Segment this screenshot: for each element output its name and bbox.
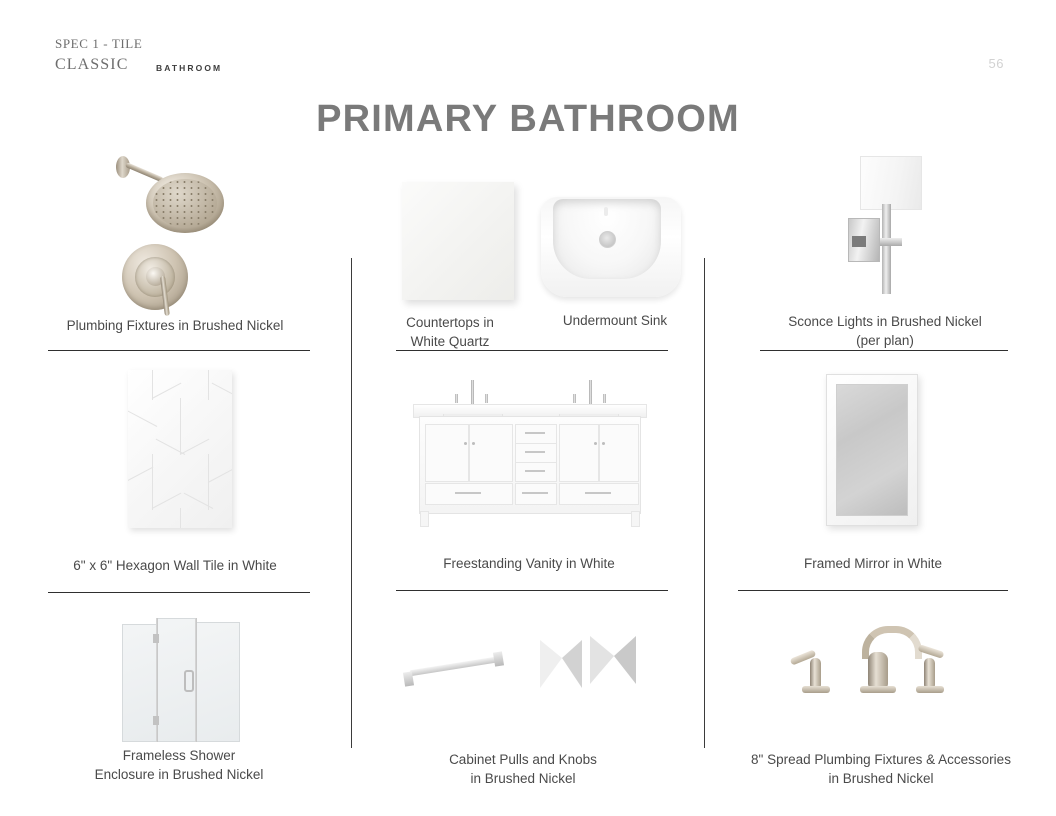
spec-sheet-page: SPEC 1 - TILE CLASSIC BATHROOM 56 PRIMAR… bbox=[0, 0, 1056, 816]
vanity-bottom-drawer-1 bbox=[425, 483, 513, 505]
faucet-right-handle-icon bbox=[924, 658, 935, 688]
caption-cabinet-hardware: Cabinet Pulls and Knobs in Brushed Nicke… bbox=[394, 750, 652, 788]
vanity-faucet-right-icon bbox=[589, 380, 592, 406]
vanity-knob-4 bbox=[602, 442, 605, 445]
enclosure-post-right bbox=[195, 618, 197, 742]
quartz-swatch-image bbox=[396, 178, 522, 304]
caption-spread-plumbing: 8" Spread Plumbing Fixtures & Accessorie… bbox=[718, 750, 1044, 788]
quartz-sample-icon bbox=[402, 182, 514, 300]
vanity-center-drawer-3 bbox=[515, 462, 557, 482]
vanity-door-3 bbox=[559, 424, 599, 482]
enclosure-side-panel-right bbox=[196, 622, 240, 742]
rule-hexagon-tile bbox=[48, 592, 310, 593]
rule-plumbing-fixtures bbox=[48, 350, 310, 351]
faucet-left-handle-icon bbox=[810, 658, 821, 688]
enclosure-hinge-bottom bbox=[153, 716, 159, 725]
sconce-stem-icon bbox=[882, 204, 891, 294]
faucet-spout-body-icon bbox=[868, 652, 888, 688]
page-title: PRIMARY BATHROOM bbox=[0, 98, 1056, 141]
vanity-center-pull-1 bbox=[525, 432, 545, 434]
rule-framed-mirror bbox=[738, 590, 1008, 591]
cabinet-hardware-image bbox=[394, 618, 522, 718]
sconce-backplate-detail-icon bbox=[852, 236, 866, 247]
vanity-knob-2 bbox=[472, 442, 475, 445]
widespread-faucet-image bbox=[778, 618, 984, 718]
hexagon-tile-panel-icon bbox=[128, 370, 232, 528]
rule-sconce-lights bbox=[760, 350, 1008, 351]
rule-countertops-sink bbox=[396, 350, 668, 351]
shower-arm-icon bbox=[125, 162, 164, 182]
sconce-shade-icon bbox=[860, 156, 922, 210]
vanity-image bbox=[409, 370, 649, 532]
page-number: 56 bbox=[989, 56, 1004, 71]
cabinet-knob-2-facet-b bbox=[614, 636, 636, 684]
rule-vanity bbox=[396, 590, 668, 591]
vanity-center-pull-2 bbox=[525, 451, 545, 453]
cabinet-knob-1-facet-b bbox=[562, 640, 582, 688]
vanity-center-drawer-1 bbox=[515, 424, 557, 444]
cabinet-pull-bar-icon bbox=[410, 656, 502, 676]
framed-mirror-image bbox=[808, 370, 936, 532]
vanity-door-2 bbox=[469, 424, 513, 482]
caption-undermount-sink: Undermount Sink bbox=[533, 311, 697, 330]
collection-label: CLASSIC bbox=[55, 56, 129, 74]
faucet-left-base-icon bbox=[802, 686, 830, 693]
mirror-glass-icon bbox=[836, 384, 908, 516]
cabinet-pull-foot-right bbox=[493, 651, 504, 666]
vanity-knob-3 bbox=[594, 442, 597, 445]
shower-fixture-image bbox=[108, 148, 248, 318]
vanity-faucet-right-handle-b bbox=[603, 394, 606, 403]
vanity-center-drawer-2 bbox=[515, 443, 557, 463]
vanity-center-pull-3 bbox=[525, 470, 545, 472]
vanity-bottom-pull-2 bbox=[522, 492, 548, 494]
caption-shower-enclosure: Frameless Shower Enclosure in Brushed Ni… bbox=[40, 746, 318, 784]
vanity-faucet-right-handle-a bbox=[573, 394, 576, 403]
spec-label: SPEC 1 - TILE bbox=[55, 36, 142, 52]
caption-sconce-lights: Sconce Lights in Brushed Nickel (per pla… bbox=[740, 312, 1030, 350]
caption-framed-mirror: Framed Mirror in White bbox=[740, 554, 1006, 573]
vanity-door-4 bbox=[599, 424, 639, 482]
vanity-bottom-pull-1 bbox=[455, 492, 481, 494]
shower-head-face-icon bbox=[153, 179, 217, 227]
column-divider-right bbox=[704, 258, 705, 748]
cabinet-knob-1-facet-a bbox=[540, 640, 562, 688]
cabinet-knob-2-facet-a bbox=[590, 636, 614, 684]
sink-drain-icon bbox=[599, 231, 616, 248]
enclosure-door-handle bbox=[184, 670, 194, 692]
hexagon-tile-image bbox=[118, 368, 242, 530]
undermount-sink-image bbox=[537, 185, 685, 305]
enclosure-hinge-top bbox=[153, 634, 159, 643]
shower-head-icon bbox=[146, 173, 224, 233]
sink-overflow-icon bbox=[604, 207, 608, 216]
faucet-spout-base-icon bbox=[860, 686, 896, 693]
vanity-leg-left bbox=[420, 511, 429, 527]
vanity-faucet-left-icon bbox=[471, 380, 474, 406]
caption-hexagon-tile: 6" x 6" Hexagon Wall Tile in White bbox=[40, 556, 310, 575]
mirror-frame-icon bbox=[826, 374, 918, 526]
vanity-door-1 bbox=[425, 424, 469, 482]
caption-plumbing-fixtures: Plumbing Fixtures in Brushed Nickel bbox=[40, 316, 310, 335]
room-tag-label: BATHROOM bbox=[156, 63, 222, 73]
vanity-faucet-left-handle-b bbox=[485, 394, 488, 403]
cabinet-knobs-image bbox=[528, 620, 644, 712]
vanity-bottom-drawer-3 bbox=[559, 483, 639, 505]
vanity-knob-1 bbox=[464, 442, 467, 445]
vanity-leg-right bbox=[631, 511, 640, 527]
vanity-bottom-drawer-2 bbox=[515, 483, 557, 505]
vanity-bottom-pull-3 bbox=[585, 492, 611, 494]
caption-vanity: Freestanding Vanity in White bbox=[394, 554, 664, 573]
vanity-faucet-left-handle-a bbox=[455, 394, 458, 403]
sconce-light-image bbox=[838, 152, 942, 302]
caption-countertops: Countertops in White Quartz bbox=[375, 313, 525, 351]
shower-enclosure-image bbox=[116, 612, 250, 752]
column-divider-left bbox=[351, 258, 352, 748]
faucet-right-base-icon bbox=[916, 686, 944, 693]
